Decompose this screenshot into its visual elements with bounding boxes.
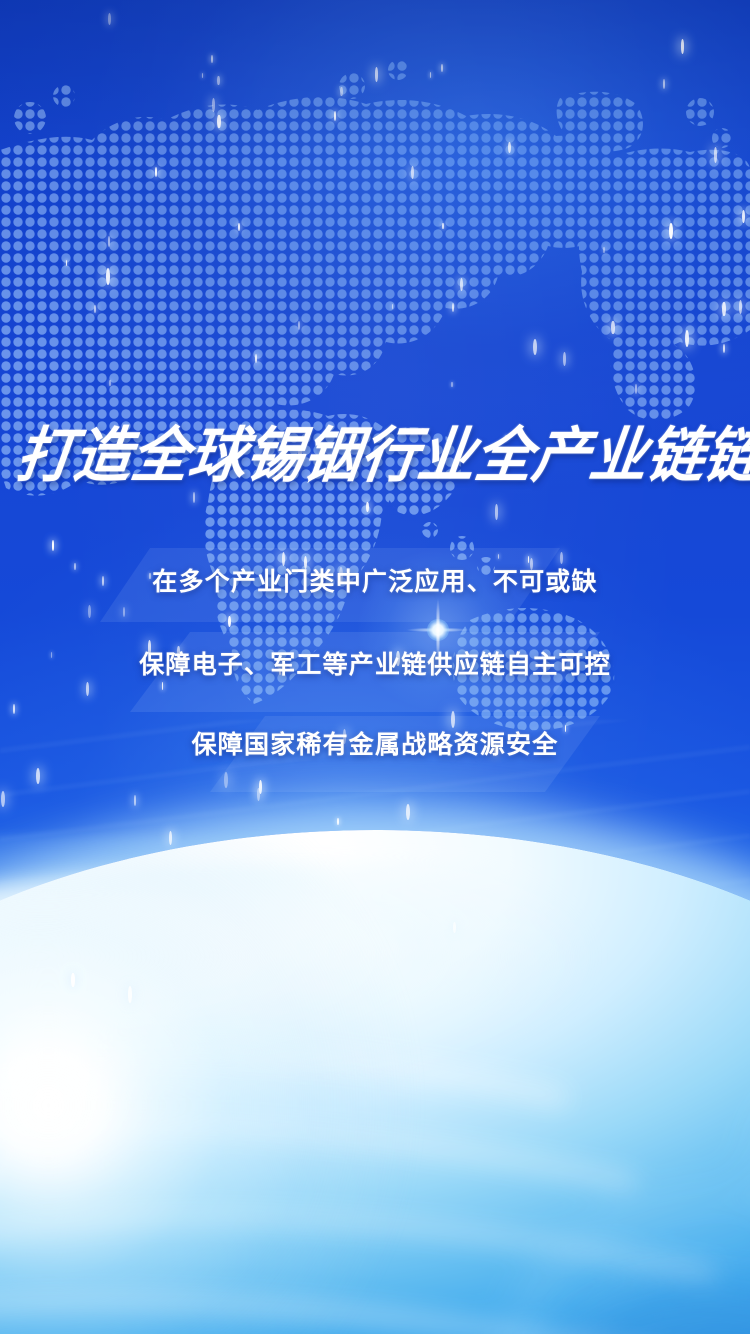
subtitle-line-3: 保障国家稀有金属战略资源安全 bbox=[0, 725, 750, 761]
subtitle-line-2: 保障电子、军工等产业链供应链自主可控 bbox=[0, 645, 750, 681]
poster-canvas: 打造全球锡铟行业全产业链链主 在多个产业门类中广泛应用、不可或缺 保障电子、军工… bbox=[0, 0, 750, 1334]
earth-horizon bbox=[0, 830, 750, 1334]
page-title: 打造全球锡铟行业全产业链链主 bbox=[12, 418, 738, 494]
subtitle-line-1: 在多个产业门类中广泛应用、不可或缺 bbox=[0, 562, 750, 598]
